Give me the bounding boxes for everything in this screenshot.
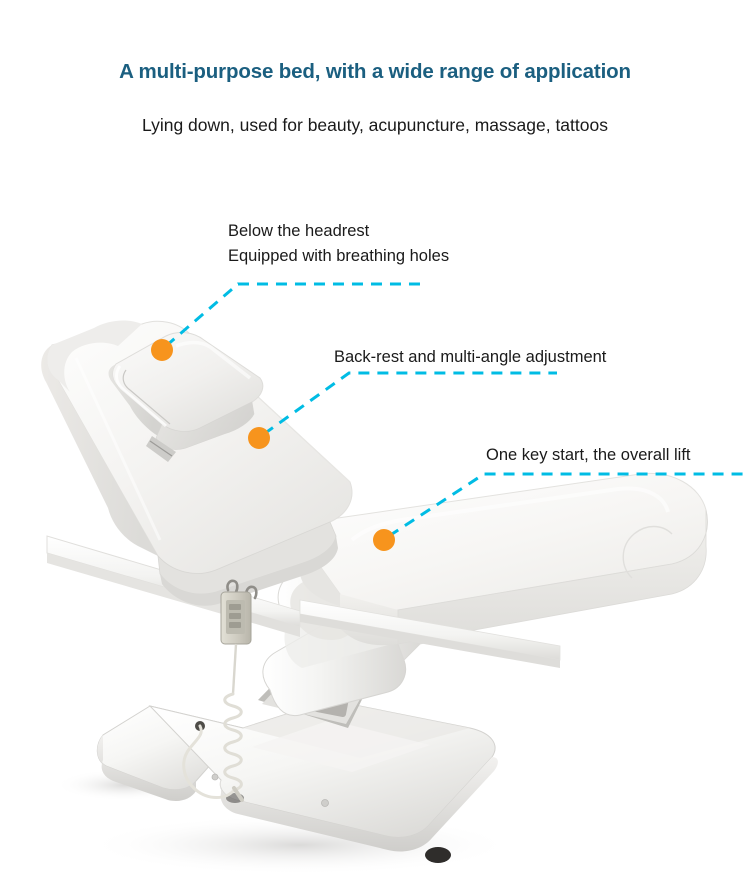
callout-label-3: One key start, the overall lift (486, 443, 691, 468)
page-subtitle: Lying down, used for beauty, acupuncture… (0, 115, 750, 136)
callout-label-3-line-1: One key start, the overall lift (486, 443, 691, 468)
seat-section (300, 473, 707, 668)
castor-wheel (425, 847, 451, 863)
callout-label-1-line-2: Equipped with breathing holes (228, 244, 449, 269)
callout-label-2: Back-rest and multi-angle adjustment (334, 345, 606, 370)
page-title: A multi-purpose bed, with a wide range o… (0, 60, 750, 84)
infographic-page: A multi-purpose bed, with a wide range o… (0, 0, 750, 884)
callout-label-1-line-1: Below the headrest (228, 219, 449, 244)
callout-label-1: Below the headrest Equipped with breathi… (228, 219, 449, 269)
callout-label-2-line-1: Back-rest and multi-angle adjustment (334, 345, 606, 370)
